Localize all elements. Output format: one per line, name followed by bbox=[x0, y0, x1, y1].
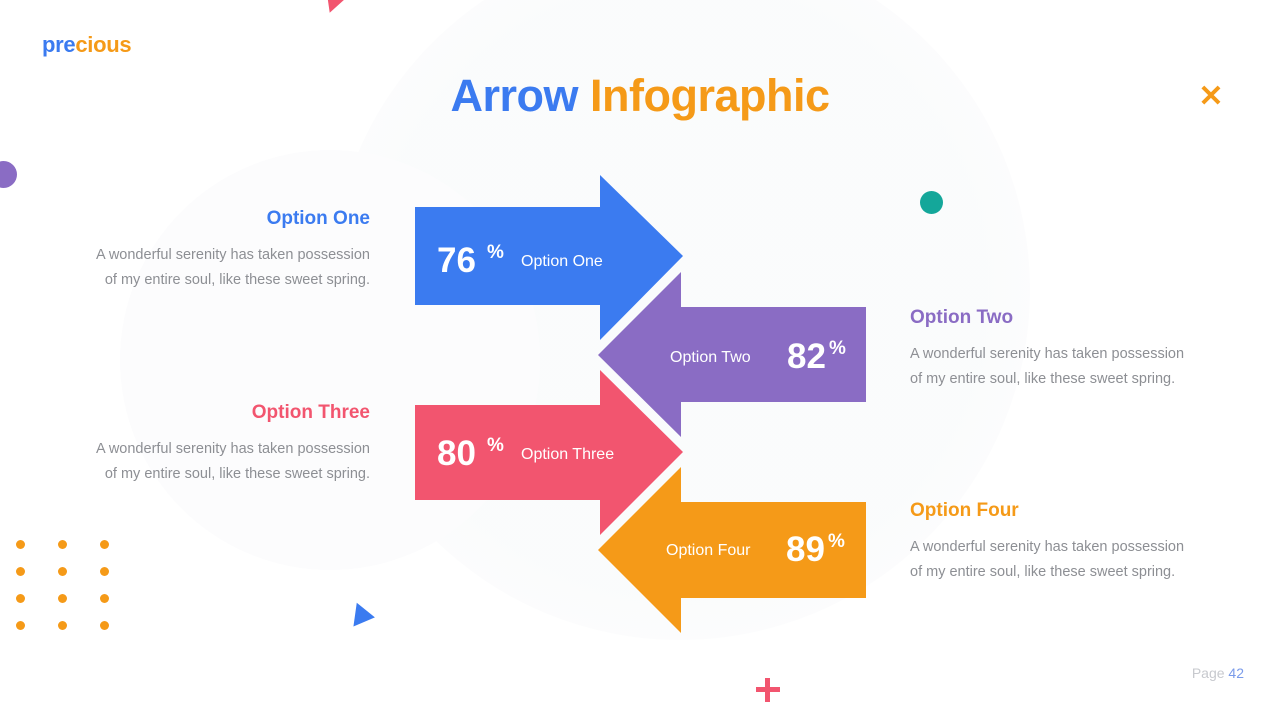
blue-triangle-icon bbox=[353, 603, 376, 630]
description-block-option-one: Option One A wonderful serenity has take… bbox=[90, 206, 370, 293]
description-heading-option-three: Option Three bbox=[90, 400, 370, 425]
description-body-option-four: A wonderful serenity has taken possessio… bbox=[910, 535, 1200, 585]
description-block-option-three: Option Three A wonderful serenity has ta… bbox=[90, 400, 370, 487]
dot bbox=[58, 621, 67, 630]
description-heading-option-one: Option One bbox=[90, 206, 370, 231]
description-body-option-one: A wonderful serenity has taken possessio… bbox=[90, 243, 370, 293]
dot bbox=[100, 621, 109, 630]
arrow-value-option-two: 82 bbox=[787, 337, 826, 376]
dot bbox=[58, 594, 67, 603]
arrow-label-option-one: Option One bbox=[521, 253, 603, 270]
arrow-value-option-one: 76 bbox=[437, 241, 476, 280]
arrow-percent-sign-option-three: % bbox=[487, 435, 504, 456]
description-block-option-four: Option Four A wonderful serenity has tak… bbox=[910, 498, 1200, 585]
description-heading-option-four: Option Four bbox=[910, 498, 1200, 523]
dot-grid-decoration bbox=[16, 540, 120, 640]
dot bbox=[100, 567, 109, 576]
dot bbox=[58, 567, 67, 576]
dot bbox=[100, 540, 109, 549]
slide-canvas: precious Arrow Infographic ✕ 76 % Option… bbox=[0, 0, 1280, 720]
description-body-option-two: A wonderful serenity has taken possessio… bbox=[910, 342, 1200, 392]
arrow-label-option-two: Option Two bbox=[670, 349, 751, 366]
arrow-percent-sign-option-one: % bbox=[487, 242, 504, 263]
dot bbox=[16, 567, 25, 576]
dot bbox=[58, 540, 67, 549]
description-heading-option-two: Option Two bbox=[910, 305, 1200, 330]
description-body-option-three: A wonderful serenity has taken possessio… bbox=[90, 437, 370, 487]
arrow-label-option-three: Option Three bbox=[521, 446, 614, 463]
arrow-value-option-four: 89 bbox=[786, 530, 825, 569]
pink-plus-icon bbox=[756, 678, 780, 702]
page-number-label: Page bbox=[1192, 665, 1225, 681]
page-number: Page 42 bbox=[1192, 664, 1244, 682]
page-number-value: 42 bbox=[1228, 665, 1244, 681]
dot bbox=[16, 594, 25, 603]
arrow-percent-sign-option-four: % bbox=[828, 531, 845, 552]
dot bbox=[16, 621, 25, 630]
arrow-percent-sign-option-two: % bbox=[829, 338, 846, 359]
teal-circle-icon bbox=[920, 191, 943, 214]
arrow-label-option-four: Option Four bbox=[666, 542, 751, 559]
arrow-value-option-three: 80 bbox=[437, 434, 476, 473]
dot bbox=[100, 594, 109, 603]
dot bbox=[16, 540, 25, 549]
description-block-option-two: Option Two A wonderful serenity has take… bbox=[910, 305, 1200, 392]
